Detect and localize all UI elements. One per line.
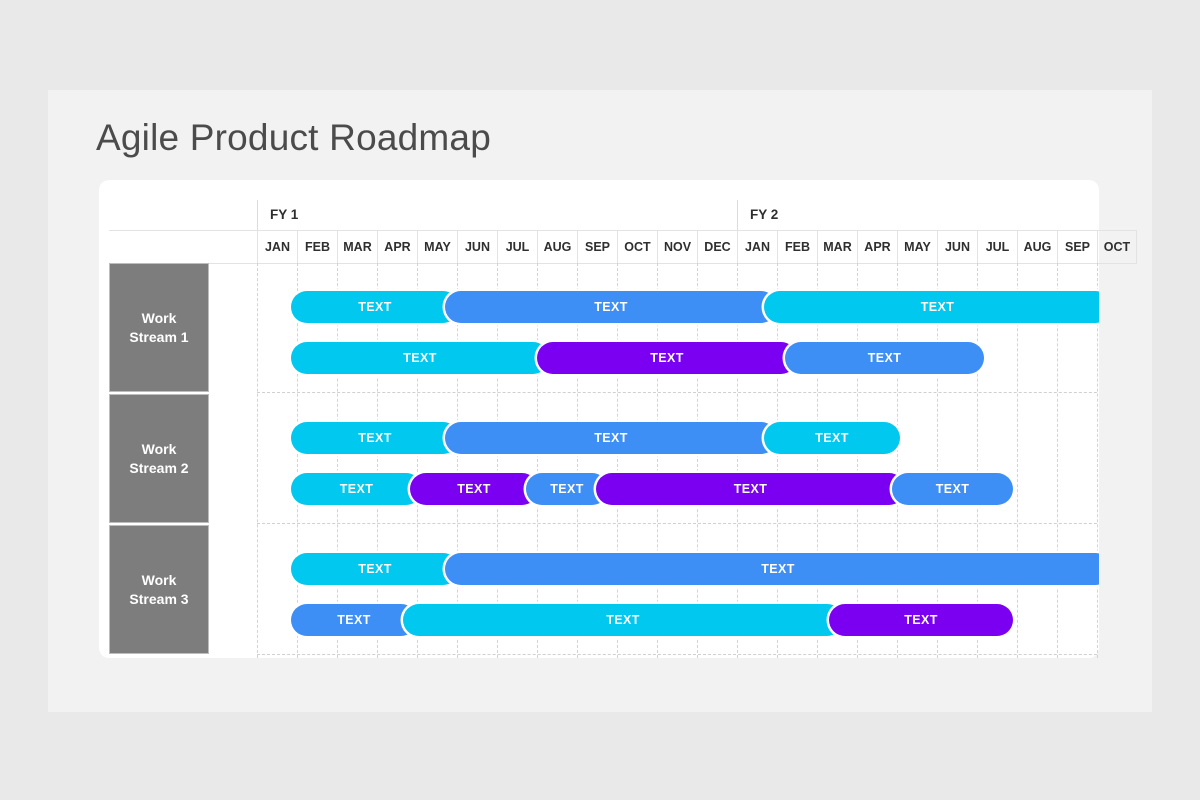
roadmap-chart-panel: FY 1FY 2 JANFEBMARAPRMAYJUNJULAUGSEPOCTN… (99, 180, 1099, 658)
work-stream-label-line: Stream 3 (129, 590, 188, 609)
roadmap-bar[interactable]: TEXT (537, 342, 797, 374)
work-stream-label-line: Work (129, 571, 188, 590)
month-header-cell: JAN (257, 231, 297, 263)
month-header-cell: SEP (577, 231, 617, 263)
vertical-gridline (297, 263, 298, 658)
roadmap-bar[interactable]: TEXT (291, 342, 549, 374)
month-header-cell: APR (857, 231, 897, 263)
roadmap-bar[interactable]: TEXT (596, 473, 905, 505)
month-header-cell: APR (377, 231, 417, 263)
month-header-cell: OCT (617, 231, 657, 263)
work-stream-label-3: WorkStream 3 (109, 525, 209, 654)
roadmap-bar[interactable]: TEXT (291, 604, 417, 636)
roadmap-bar[interactable]: TEXT (829, 604, 1013, 636)
vertical-gridline (257, 263, 258, 658)
work-stream-label-line: Work (129, 309, 188, 328)
work-stream-label-line: Stream 1 (129, 328, 188, 347)
month-header-cell: AUG (537, 231, 577, 263)
horizontal-gridline (257, 523, 1099, 524)
fiscal-year-label-1: FY 1 (257, 200, 737, 230)
roadmap-bar[interactable]: TEXT (892, 473, 1013, 505)
month-header-cell: JUL (977, 231, 1017, 263)
month-header-cell: JUN (457, 231, 497, 263)
roadmap-bar[interactable]: TEXT (291, 553, 459, 585)
work-stream-label-line: Work (129, 440, 188, 459)
month-header-cell: FEB (777, 231, 817, 263)
roadmap-bar[interactable]: TEXT (785, 342, 984, 374)
roadmap-bar[interactable]: TEXT (403, 604, 843, 636)
work-stream-label-2: WorkStream 2 (109, 394, 209, 523)
slide: Agile Product Roadmap FY 1FY 2 JANFEBMAR… (48, 90, 1152, 712)
month-header-cell: OCT (1097, 231, 1137, 263)
month-header-cell: JUL (497, 231, 537, 263)
month-header-cell: DEC (697, 231, 737, 263)
month-header-cell: SEP (1057, 231, 1097, 263)
month-header-cell: MAY (417, 231, 457, 263)
horizontal-gridline (257, 654, 1099, 655)
roadmap-bar[interactable]: TEXT (291, 422, 459, 454)
roadmap-bar[interactable]: TEXT (291, 473, 422, 505)
roadmap-bar[interactable]: TEXT (445, 422, 777, 454)
month-header-cell: NOV (657, 231, 697, 263)
month-header-cell: MAR (817, 231, 857, 263)
month-header-cell: JAN (737, 231, 777, 263)
fiscal-year-header: FY 1FY 2 (99, 200, 1099, 230)
roadmap-bar[interactable]: TEXT (764, 422, 900, 454)
roadmap-bar[interactable]: TEXT (445, 291, 777, 323)
work-stream-label-1: WorkStream 1 (109, 263, 209, 392)
fiscal-year-label-2: FY 2 (737, 200, 1137, 230)
roadmap-bar[interactable]: TEXT (410, 473, 538, 505)
month-header-cell: MAR (337, 231, 377, 263)
work-stream-label-line: Stream 2 (129, 459, 188, 478)
month-header-cell: MAY (897, 231, 937, 263)
page-title: Agile Product Roadmap (96, 117, 491, 159)
month-header-cell: AUG (1017, 231, 1057, 263)
horizontal-gridline (257, 392, 1099, 393)
month-header-cell: FEB (297, 231, 337, 263)
roadmap-bar[interactable]: TEXT (764, 291, 1099, 323)
roadmap-bar[interactable]: TEXT (291, 291, 459, 323)
roadmap-bar[interactable]: TEXT (445, 553, 1099, 585)
month-header-cell: JUN (937, 231, 977, 263)
gantt-grid: WorkStream 1TEXTTEXTTEXTTEXTTEXTTEXTWork… (99, 263, 1099, 658)
